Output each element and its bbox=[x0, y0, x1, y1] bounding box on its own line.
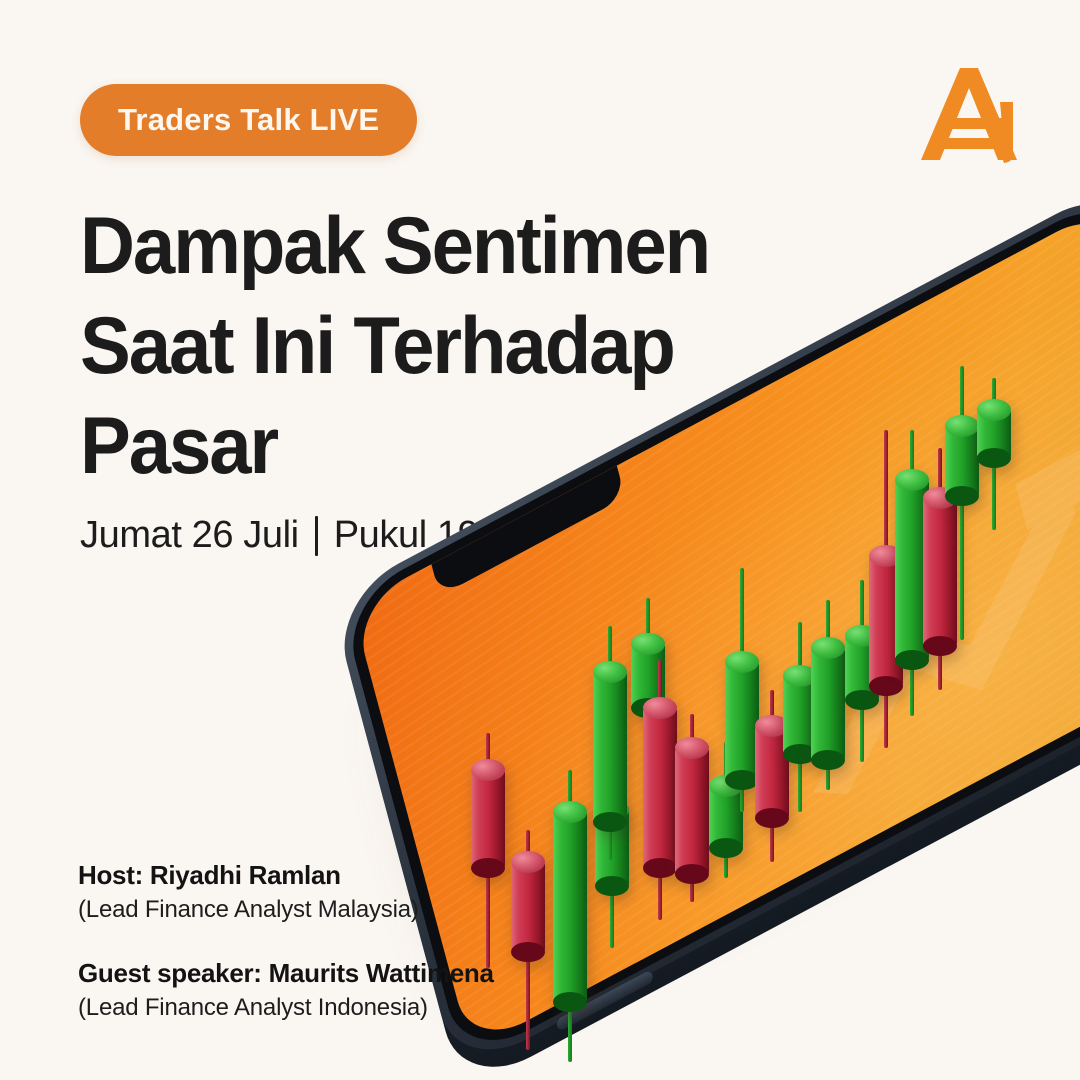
candle-body bbox=[895, 480, 929, 660]
candle-top-ellipse bbox=[553, 801, 587, 823]
candle-wick bbox=[826, 600, 830, 790]
candle-wick bbox=[608, 626, 612, 860]
phone-volume-button bbox=[556, 969, 655, 1032]
live-badge[interactable]: Traders Talk LIVE bbox=[80, 84, 417, 156]
candle-top-ellipse bbox=[755, 715, 789, 737]
candle-body bbox=[553, 812, 587, 1002]
candle-top-ellipse bbox=[631, 633, 665, 655]
guest-role: (Lead Finance Analyst Indonesia) bbox=[78, 994, 494, 1022]
candle-up bbox=[593, 626, 627, 860]
candle-body bbox=[643, 708, 677, 868]
candle-down bbox=[869, 430, 903, 748]
candle-bottom-ellipse bbox=[511, 942, 545, 962]
candle-body bbox=[709, 786, 743, 848]
candle-body bbox=[471, 770, 505, 868]
candle-body bbox=[869, 556, 903, 686]
candle-up bbox=[977, 378, 1011, 530]
candle-wick bbox=[690, 714, 694, 902]
candle-top-ellipse bbox=[869, 545, 903, 567]
speaker-credits: Host: Riyadhi Ramlan (Lead Finance Analy… bbox=[78, 860, 494, 1022]
candle-body bbox=[945, 426, 979, 496]
candle-wick bbox=[646, 598, 650, 820]
candle-bottom-ellipse bbox=[553, 992, 587, 1012]
candle-wick bbox=[860, 580, 864, 762]
candle-wick bbox=[938, 448, 942, 690]
candle-up bbox=[725, 568, 759, 812]
headline-line-2: Saat Ini Terhadap bbox=[80, 296, 757, 396]
schedule-separator bbox=[315, 516, 318, 556]
candle-top-ellipse bbox=[511, 851, 545, 873]
candle-top-ellipse bbox=[643, 697, 677, 719]
guest-block: Guest speaker: Maurits Wattimena (Lead F… bbox=[78, 958, 494, 1022]
candle-up bbox=[811, 600, 845, 790]
schedule-line: Jumat 26 Juli Pukul 19.00 WIB bbox=[80, 514, 611, 557]
candle-top-ellipse bbox=[595, 799, 629, 821]
candle-top-ellipse bbox=[783, 665, 817, 687]
headline-line-1: Dampak Sentimen bbox=[80, 196, 757, 296]
candle-bottom-ellipse bbox=[845, 690, 879, 710]
guest-name: Guest speaker: Maurits Wattimena bbox=[78, 958, 494, 989]
candle-up bbox=[945, 366, 979, 640]
candle-bottom-ellipse bbox=[631, 698, 665, 718]
candle-body bbox=[595, 810, 629, 886]
candle-bottom-ellipse bbox=[869, 676, 903, 696]
candle-wick bbox=[526, 830, 530, 1050]
candle-wick bbox=[960, 366, 964, 640]
candle-top-ellipse bbox=[725, 651, 759, 673]
headline-line-3: Pasar bbox=[80, 396, 757, 496]
candle-body bbox=[511, 862, 545, 952]
candle-top-ellipse bbox=[593, 661, 627, 683]
candle-top-ellipse bbox=[895, 469, 929, 491]
candle-top-ellipse bbox=[977, 399, 1011, 421]
candle-bottom-ellipse bbox=[725, 770, 759, 790]
candle-wick bbox=[724, 742, 728, 878]
candle-bottom-ellipse bbox=[593, 812, 627, 832]
candle-top-ellipse bbox=[471, 759, 505, 781]
candle-bottom-ellipse bbox=[595, 876, 629, 896]
candle-wick bbox=[568, 770, 572, 1062]
host-role: (Lead Finance Analyst Malaysia) bbox=[78, 896, 494, 924]
schedule-time: Pukul 19.00 WIB bbox=[334, 514, 611, 557]
live-badge-label: Traders Talk LIVE bbox=[118, 102, 379, 138]
host-block: Host: Riyadhi Ramlan (Lead Finance Analy… bbox=[78, 860, 494, 924]
candle-body bbox=[977, 410, 1011, 458]
host-name: Host: Riyadhi Ramlan bbox=[78, 860, 494, 891]
candle-bottom-ellipse bbox=[811, 750, 845, 770]
candle-top-ellipse bbox=[923, 487, 957, 509]
candle-bottom-ellipse bbox=[675, 864, 709, 884]
candle-up bbox=[595, 700, 629, 948]
candle-top-ellipse bbox=[845, 625, 879, 647]
candle-bottom-ellipse bbox=[923, 636, 957, 656]
candle-wick bbox=[610, 700, 614, 948]
candle-body bbox=[923, 498, 957, 646]
candle-body bbox=[755, 726, 789, 818]
candle-down bbox=[675, 714, 709, 902]
candle-body bbox=[783, 676, 817, 754]
candle-down bbox=[643, 660, 677, 920]
candle-top-ellipse bbox=[709, 775, 743, 797]
candle-body bbox=[631, 644, 665, 708]
candle-bottom-ellipse bbox=[643, 858, 677, 878]
candle-bottom-ellipse bbox=[945, 486, 979, 506]
candle-bottom-ellipse bbox=[709, 838, 743, 858]
candle-wick bbox=[910, 430, 914, 716]
candle-up bbox=[895, 430, 929, 716]
candle-up bbox=[845, 580, 879, 762]
candle-body bbox=[811, 648, 845, 760]
candle-down bbox=[511, 830, 545, 1050]
candle-top-ellipse bbox=[675, 737, 709, 759]
candle-down bbox=[755, 690, 789, 862]
candle-up bbox=[631, 598, 665, 820]
page-title: Dampak Sentimen Saat Ini Terhadap Pasar bbox=[80, 196, 800, 496]
candle-top-ellipse bbox=[811, 637, 845, 659]
candle-up bbox=[783, 622, 817, 812]
schedule-date: Jumat 26 Juli bbox=[80, 514, 299, 557]
candle-wick bbox=[992, 378, 996, 530]
candle-wick bbox=[740, 568, 744, 812]
candle-bottom-ellipse bbox=[895, 650, 929, 670]
promo-poster: Traders Talk LIVE Dampak Sentimen Saat I… bbox=[0, 0, 1080, 1080]
candle-wick bbox=[658, 660, 662, 920]
candle-wick bbox=[884, 430, 888, 748]
candle-body bbox=[845, 636, 879, 700]
brand-a-logo-icon bbox=[916, 62, 1028, 166]
candle-down bbox=[923, 448, 957, 690]
candle-bottom-ellipse bbox=[977, 448, 1011, 468]
candle-body bbox=[675, 748, 709, 874]
candle-body bbox=[593, 672, 627, 822]
candle-up bbox=[553, 770, 587, 1062]
candle-body bbox=[725, 662, 759, 780]
candle-up bbox=[709, 742, 743, 878]
candle-bottom-ellipse bbox=[755, 808, 789, 828]
candle-bottom-ellipse bbox=[783, 744, 817, 764]
candle-wick bbox=[770, 690, 774, 862]
candle-top-ellipse bbox=[945, 415, 979, 437]
candle-wick bbox=[798, 622, 802, 812]
